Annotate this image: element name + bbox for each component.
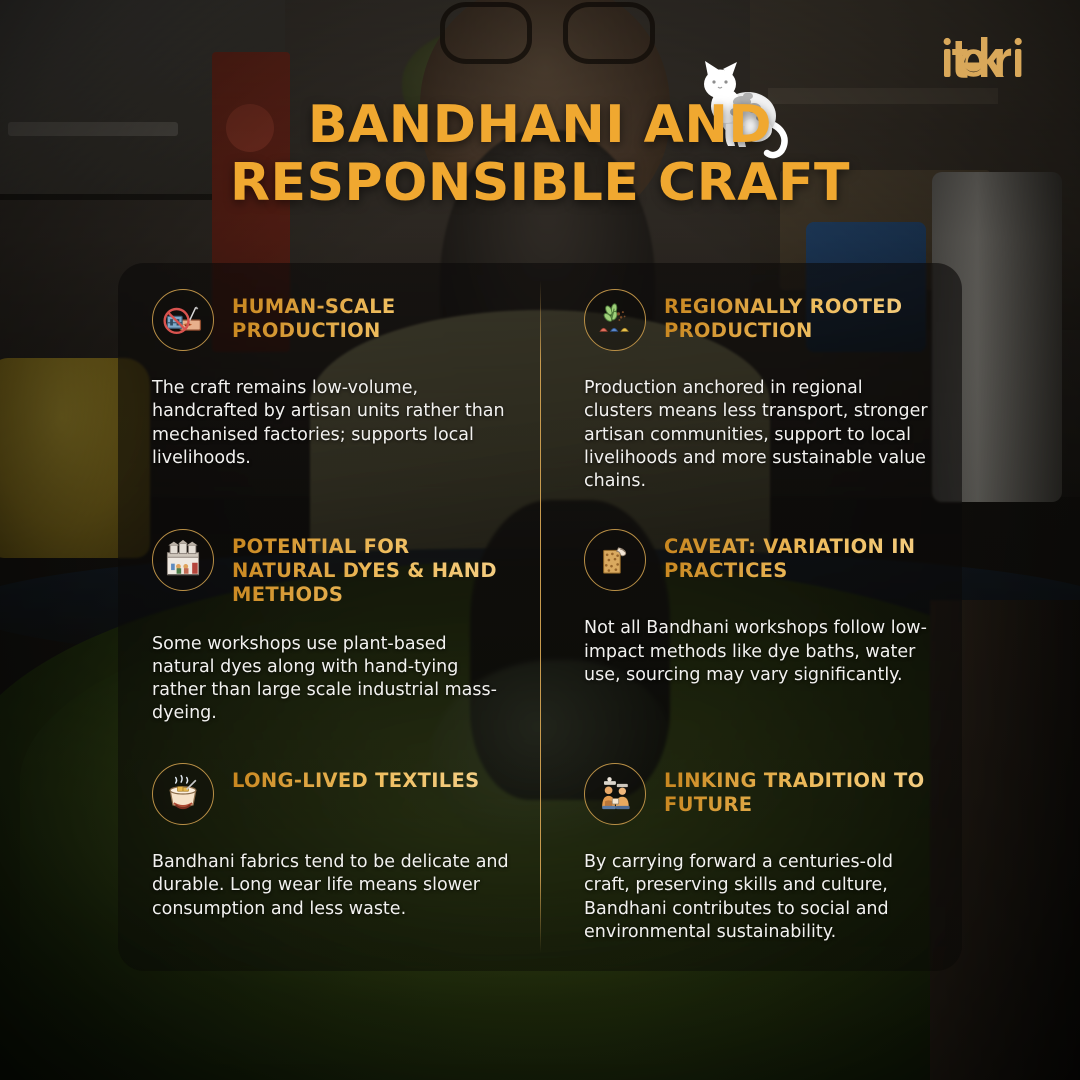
card-body: Not all Bandhani workshops follow low-im…	[584, 617, 936, 687]
card-body: Some workshops use plant-based natural d…	[152, 633, 510, 726]
leaves-and-dye-mounds-icon	[584, 289, 646, 351]
card-header: REGIONALLY ROOTED PRODUCTION	[584, 289, 936, 351]
hand-holding-fabric-swatch-icon	[584, 529, 646, 591]
card-title: LINKING TRADITION TO FUTURE	[664, 769, 936, 817]
card-body: The craft remains low-volume, handcrafte…	[152, 377, 510, 470]
card-body: By carrying forward a centuries-old craf…	[584, 851, 936, 944]
card-header: POTENTIAL FOR NATURAL DYES & HAND METHOD…	[152, 529, 510, 606]
two-artisans-icon	[584, 763, 646, 825]
itokri-logo[interactable]	[942, 36, 1038, 88]
card-body: Bandhani fabrics tend to be delicate and…	[152, 851, 510, 921]
card-header: CAVEAT: VARIATION IN PRACTICES	[584, 529, 936, 591]
card-potential-natural-dyes: POTENTIAL FOR NATURAL DYES & HAND METHOD…	[118, 503, 540, 737]
card-title: POTENTIAL FOR NATURAL DYES & HAND METHOD…	[232, 535, 510, 606]
card-header: HUMAN-SCALE PRODUCTION	[152, 289, 510, 351]
no-factory-handcraft-icon	[152, 289, 214, 351]
title-line-1: BANDHANI AND	[0, 96, 1080, 154]
card-title: REGIONALLY ROOTED PRODUCTION	[664, 295, 936, 343]
card-long-lived-textiles: LONG-LIVED TEXTILES Bandhani fabrics ten…	[118, 737, 540, 971]
content-panel: HUMAN-SCALE PRODUCTION The craft remains…	[118, 263, 962, 971]
cards-grid: HUMAN-SCALE PRODUCTION The craft remains…	[118, 263, 962, 971]
card-title: CAVEAT: VARIATION IN PRACTICES	[664, 535, 936, 583]
itokri-wordmark-icon	[942, 36, 1038, 80]
title-line-2: RESPONSIBLE CRAFT	[0, 154, 1080, 212]
card-human-scale-production: HUMAN-SCALE PRODUCTION The craft remains…	[118, 263, 540, 503]
card-caveat-variation: CAVEAT: VARIATION IN PRACTICES Not all B…	[540, 503, 962, 737]
card-body: Production anchored in regional clusters…	[584, 377, 936, 493]
card-header: LONG-LIVED TEXTILES	[152, 763, 510, 825]
card-title: HUMAN-SCALE PRODUCTION	[232, 295, 510, 343]
page-title: BANDHANI AND RESPONSIBLE CRAFT	[0, 96, 1080, 212]
itokri-basket-o	[962, 52, 985, 75]
card-linking-tradition-future: LINKING TRADITION TO FUTURE By carrying …	[540, 737, 962, 971]
steaming-dye-pot-icon	[152, 763, 214, 825]
card-regionally-rooted-production: REGIONALLY ROOTED PRODUCTION Production …	[540, 263, 962, 503]
card-header: LINKING TRADITION TO FUTURE	[584, 763, 936, 825]
workshop-shop-building-icon	[152, 529, 214, 591]
card-title: LONG-LIVED TEXTILES	[232, 769, 480, 793]
